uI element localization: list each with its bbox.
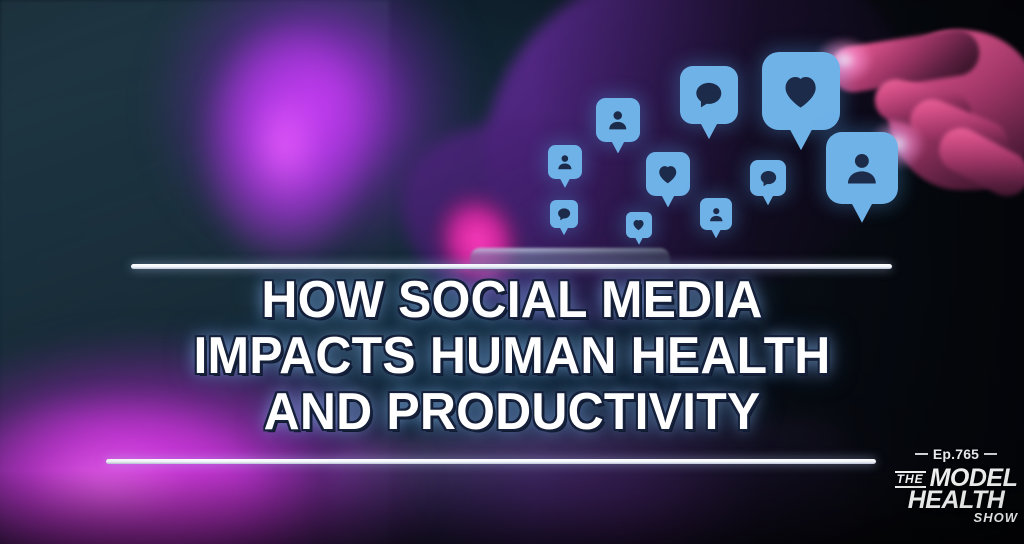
person-bubble-icon <box>826 132 898 204</box>
episode-number: Ep.765 <box>933 446 979 462</box>
person-bubble-icon <box>548 145 582 179</box>
heart-bubble-icon <box>762 52 840 130</box>
heart-bubble-icon <box>626 212 652 238</box>
bubble-shape <box>700 198 732 230</box>
bubble-shape <box>596 98 640 142</box>
bubble-shape <box>550 200 578 228</box>
branding-block: Ep.765 THE MODEL HEALTH SHOW <box>888 446 1024 544</box>
person-bubble-icon <box>596 98 640 142</box>
comment-bubble-icon <box>680 66 738 124</box>
heart-bubble-icon <box>646 152 690 196</box>
bubble-shape <box>626 212 652 238</box>
bubble-shape <box>548 145 582 179</box>
comment-bubble-icon <box>750 160 786 196</box>
bubble-shape <box>826 132 898 204</box>
title-line-2: IMPACTS HUMAN HEALTH <box>20 328 1003 384</box>
page-title: HOW SOCIAL MEDIA IMPACTS HUMAN HEALTH AN… <box>20 272 1003 440</box>
bubble-shape <box>762 52 840 130</box>
episode-cover-artwork: HOW SOCIAL MEDIA IMPACTS HUMAN HEALTH AN… <box>0 0 1024 544</box>
bubble-shape <box>750 160 786 196</box>
show-logo: THE MODEL HEALTH SHOW <box>888 466 1024 524</box>
bubble-shape <box>680 66 738 124</box>
title-rule-top <box>131 264 892 269</box>
person-bubble-icon <box>700 198 732 230</box>
desk-shadow <box>0 470 1024 544</box>
episode-number-line: Ep.765 <box>888 446 1024 462</box>
title-rule-bottom <box>106 459 876 464</box>
title-line-3: AND PRODUCTIVITY <box>20 384 1003 440</box>
dash-right-icon <box>984 453 997 455</box>
comment-bubble-icon <box>550 200 578 228</box>
title-line-1: HOW SOCIAL MEDIA <box>20 272 1003 328</box>
bubble-shape <box>646 152 690 196</box>
dash-left-icon <box>915 453 928 455</box>
